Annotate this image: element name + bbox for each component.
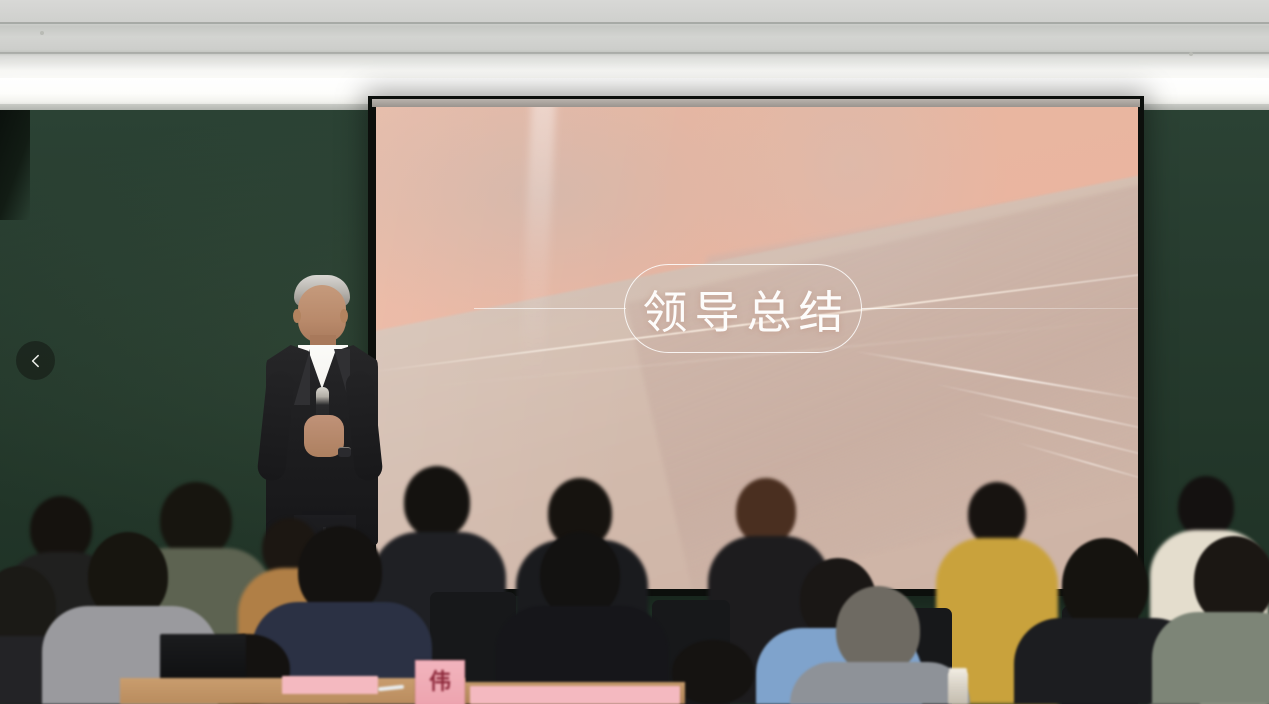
attendee-head: [836, 586, 920, 674]
attendee-body: [1152, 612, 1269, 704]
speaker-ear: [340, 309, 348, 323]
name-card: 伟: [415, 660, 465, 704]
attendee-head: [1194, 536, 1269, 624]
wall-left-shadow: [0, 110, 30, 220]
slide-rule-right: [862, 308, 1138, 309]
speaker-lapel: [294, 349, 310, 405]
slide-title-pill: 领导总结: [624, 264, 862, 353]
handout-paper: [470, 686, 680, 704]
water-bottle: [948, 672, 968, 704]
ceiling-screw: [40, 31, 44, 35]
ceiling-seam: [0, 22, 1269, 24]
ceiling: [0, 0, 1269, 88]
slide-rule-left: [474, 308, 626, 309]
slide-title: 领导总结: [635, 276, 850, 341]
ceiling-seam: [0, 52, 1269, 54]
previous-slide-button[interactable]: [16, 341, 55, 380]
attendee-body: [790, 662, 970, 704]
projection-screen-roller: [372, 99, 1140, 107]
presentation-photo: 领导总结: [0, 0, 1269, 704]
attendee-head: [1178, 476, 1234, 538]
attendee-head: [160, 482, 232, 558]
handout-paper: [282, 676, 378, 694]
attendee-head: [968, 482, 1026, 546]
attendee-head: [736, 478, 796, 544]
name-card-text: 伟: [429, 672, 451, 694]
ceiling-screw: [1189, 52, 1193, 56]
laptop: [160, 634, 246, 682]
attendee-head: [404, 466, 470, 538]
speaker-ear: [293, 309, 301, 323]
chevron-left-icon: [28, 353, 44, 369]
